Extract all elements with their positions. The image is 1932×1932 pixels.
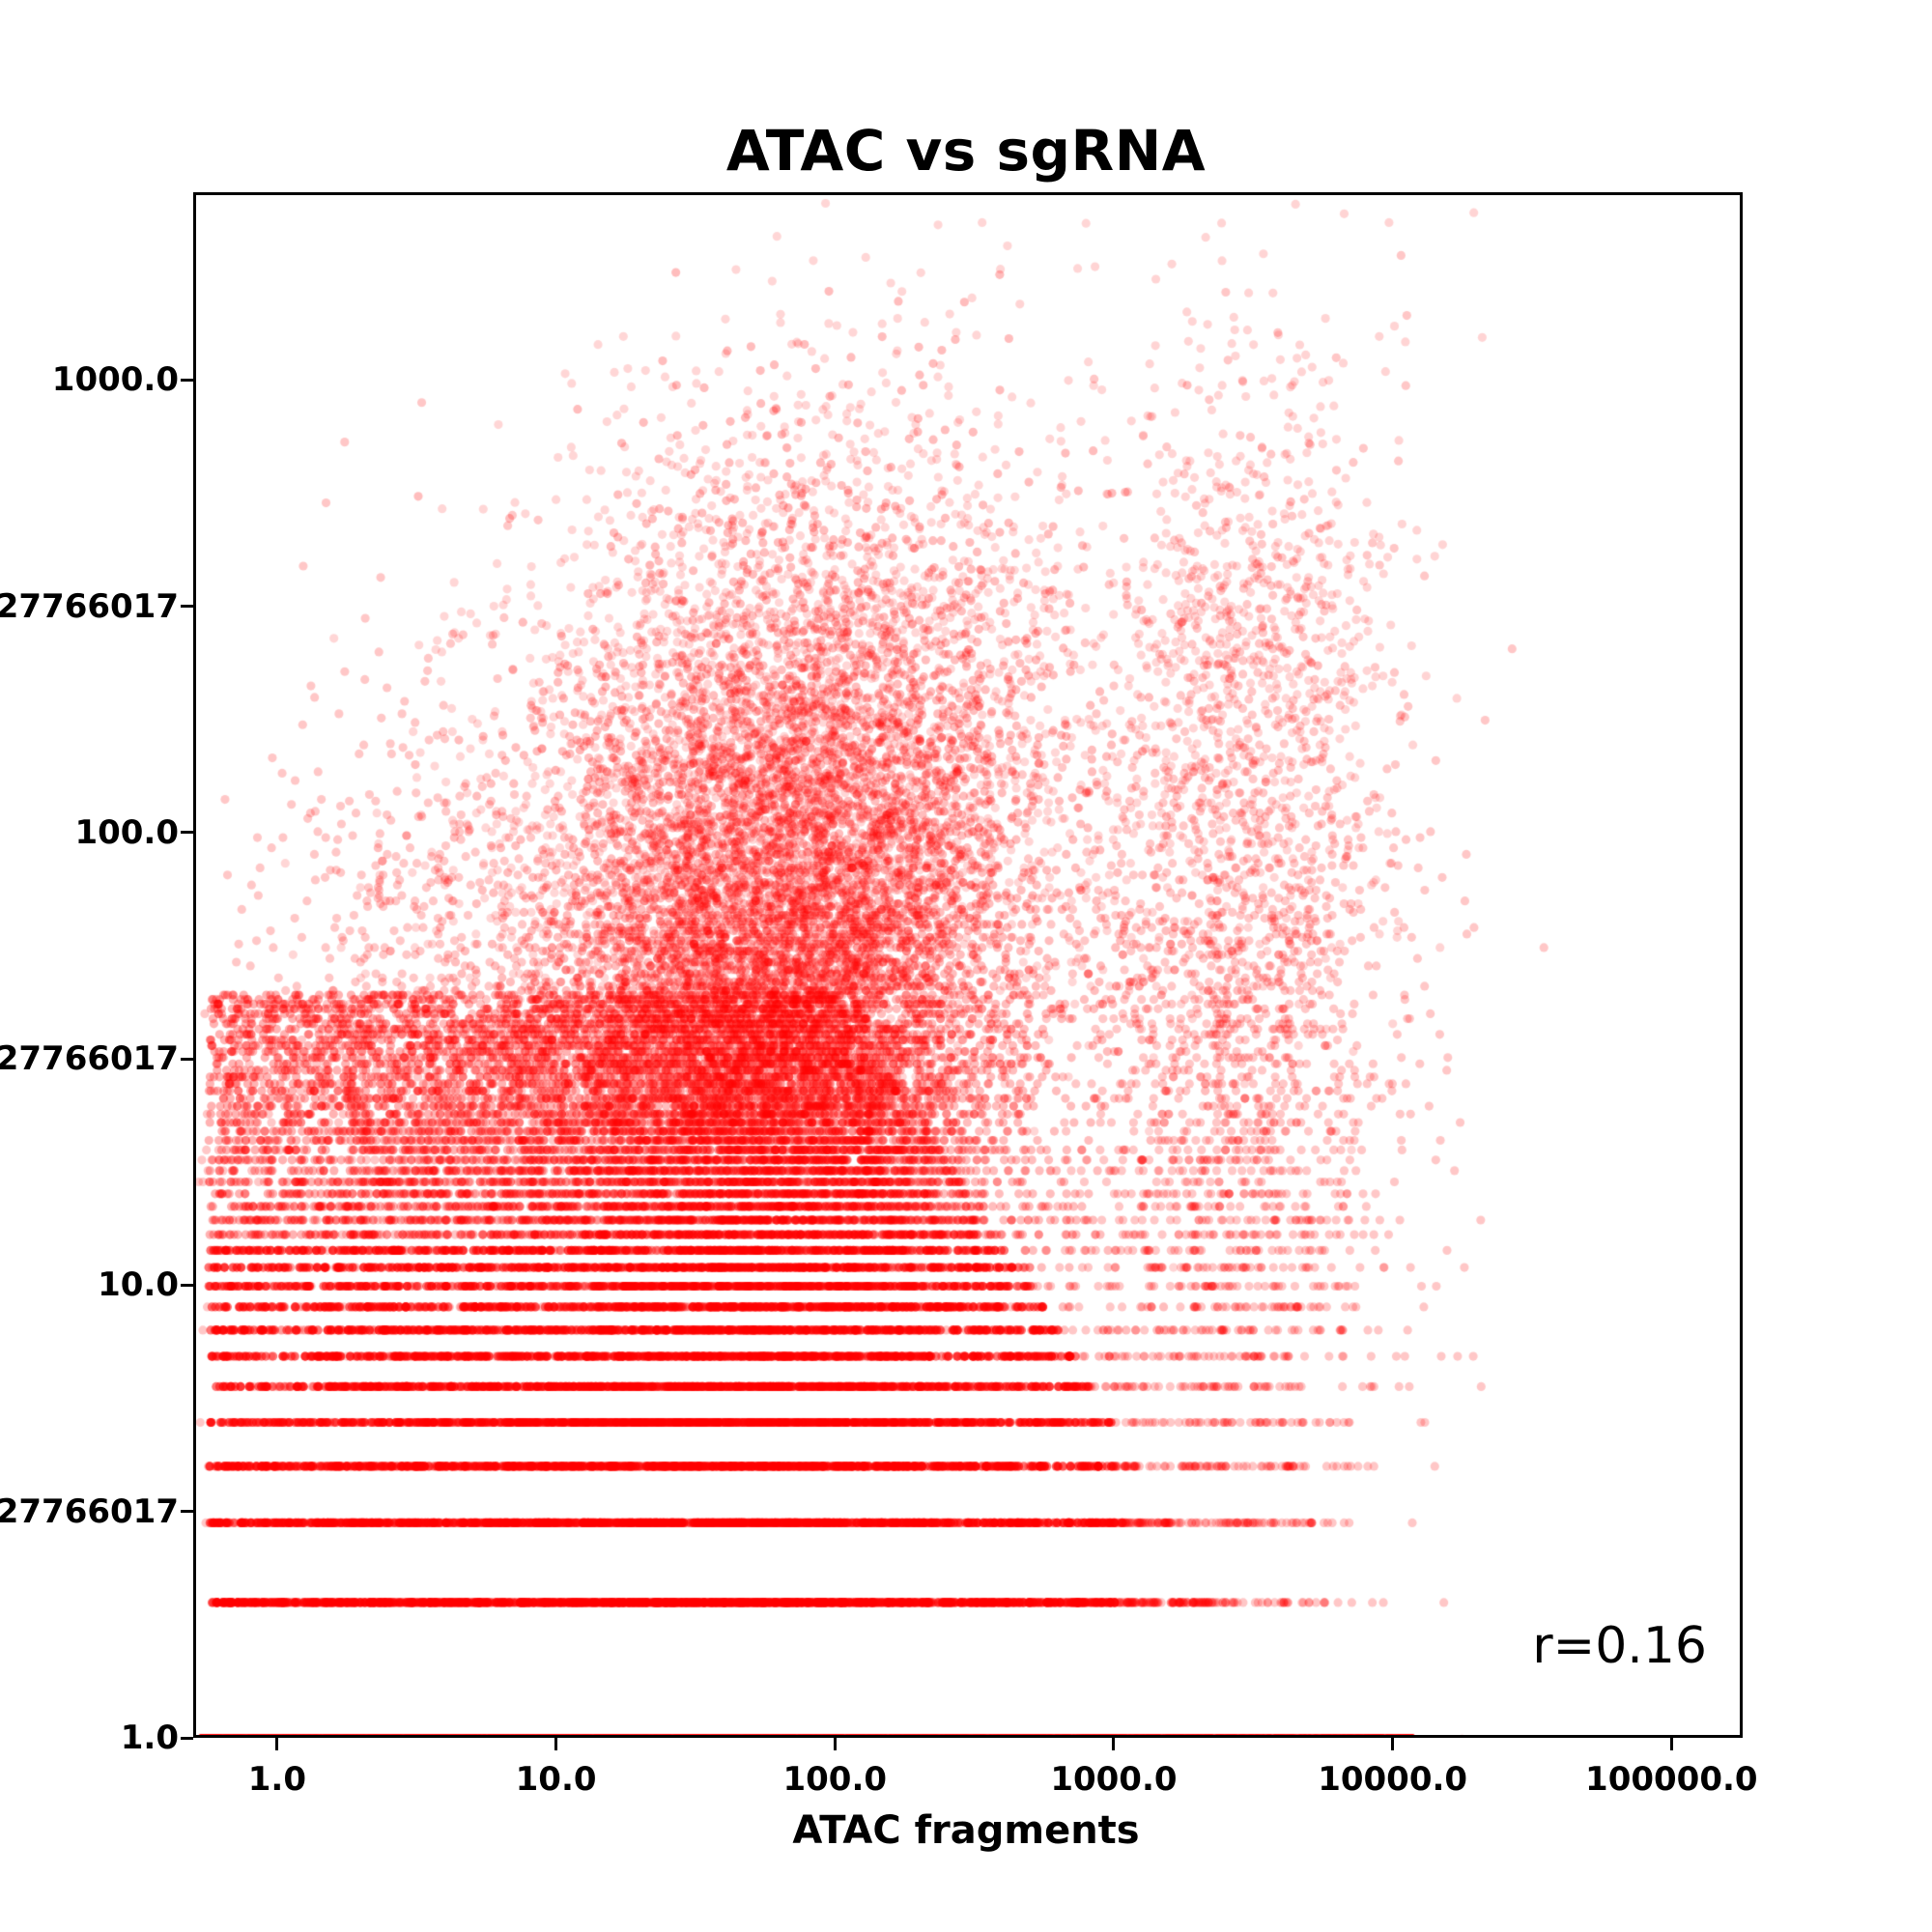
y-tick-label: 3.16227766017 <box>0 1492 179 1531</box>
y-tick-label: 10.0 <box>98 1265 179 1304</box>
x-tick-mark <box>1112 1738 1115 1750</box>
x-tick-label: 100000.0 <box>1585 1760 1758 1799</box>
y-tick-mark <box>181 1510 193 1513</box>
correlation-annotation: r=0.16 <box>1532 1617 1707 1675</box>
y-tick-label: 316.227766017 <box>0 587 179 626</box>
x-tick-label: 1000.0 <box>1050 1760 1177 1799</box>
chart-title: ATAC vs sgRNA <box>0 118 1932 184</box>
x-tick-label: 100.0 <box>782 1760 887 1799</box>
x-tick-label: 10000.0 <box>1318 1760 1467 1799</box>
y-tick-mark <box>181 1058 193 1061</box>
y-tick-label: 100.0 <box>74 813 179 852</box>
x-axis-title: ATAC fragments <box>0 1808 1932 1853</box>
y-tick-label: 1.0 <box>121 1719 179 1757</box>
y-tick-mark <box>181 831 193 834</box>
x-tick-mark <box>275 1738 278 1750</box>
y-tick-mark <box>181 379 193 382</box>
x-tick-label: 10.0 <box>516 1760 597 1799</box>
y-tick-mark <box>181 1737 193 1740</box>
plot-area: r=0.16 <box>193 192 1743 1738</box>
y-tick-mark <box>181 605 193 608</box>
y-tick-mark <box>181 1284 193 1287</box>
scatter-figure: ATAC vs sgRNA r=0.16 1.03.1622776601710.… <box>0 0 1932 1932</box>
scatter-points-canvas <box>196 195 1740 1735</box>
x-tick-mark <box>1670 1738 1673 1750</box>
y-tick-label: 1000.0 <box>52 360 179 399</box>
x-tick-mark <box>554 1738 557 1750</box>
x-tick-mark <box>834 1738 837 1750</box>
y-tick-label: 31.6227766017 <box>0 1039 179 1078</box>
x-tick-label: 1.0 <box>248 1760 306 1799</box>
x-tick-mark <box>1391 1738 1394 1750</box>
